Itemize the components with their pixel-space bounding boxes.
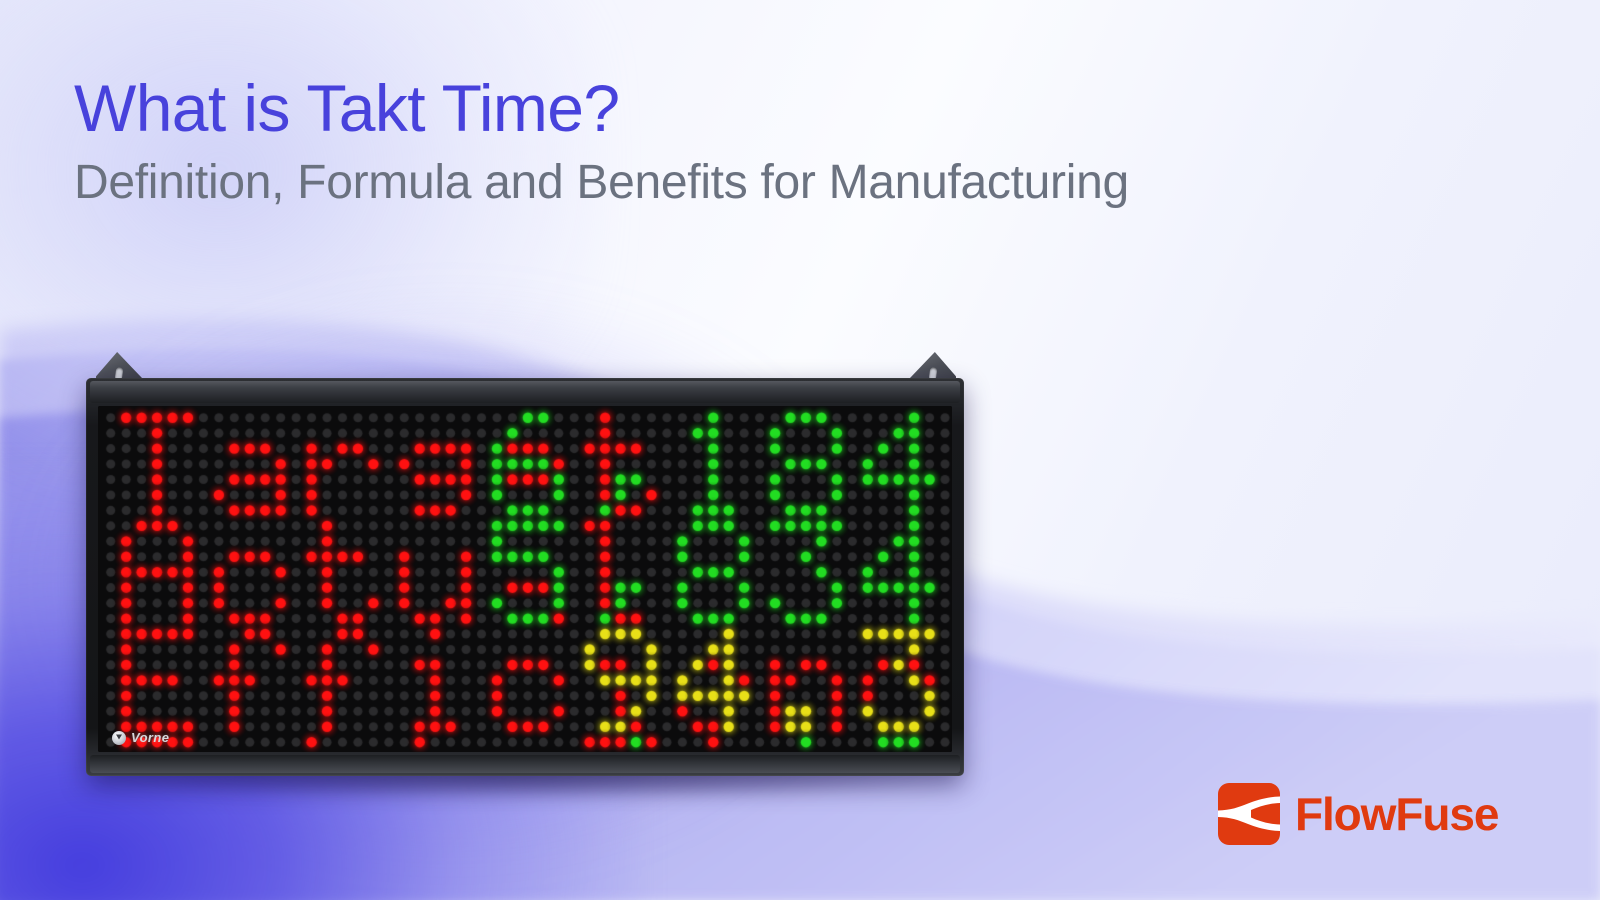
led-matrix: [98, 406, 952, 752]
vorne-logo-icon: [112, 731, 126, 745]
sign-top-rail: [90, 381, 960, 403]
vorne-brand-label: Vorne: [131, 730, 169, 745]
led-sign: Vorne: [86, 352, 966, 792]
page-title: What is Takt Time?: [74, 72, 1514, 146]
flowfuse-mark-icon: [1218, 783, 1280, 845]
page-subtitle: Definition, Formula and Benefits for Man…: [74, 154, 1514, 212]
led-screen: Vorne: [98, 406, 952, 752]
sign-enclosure: Vorne: [86, 378, 964, 776]
heading-block: What is Takt Time? Definition, Formula a…: [74, 72, 1514, 212]
flowfuse-logo: FlowFuse: [1218, 783, 1498, 845]
sign-bottom-rail: [90, 755, 960, 773]
flowfuse-wordmark: FlowFuse: [1295, 791, 1498, 837]
vorne-branding: Vorne: [112, 730, 169, 745]
